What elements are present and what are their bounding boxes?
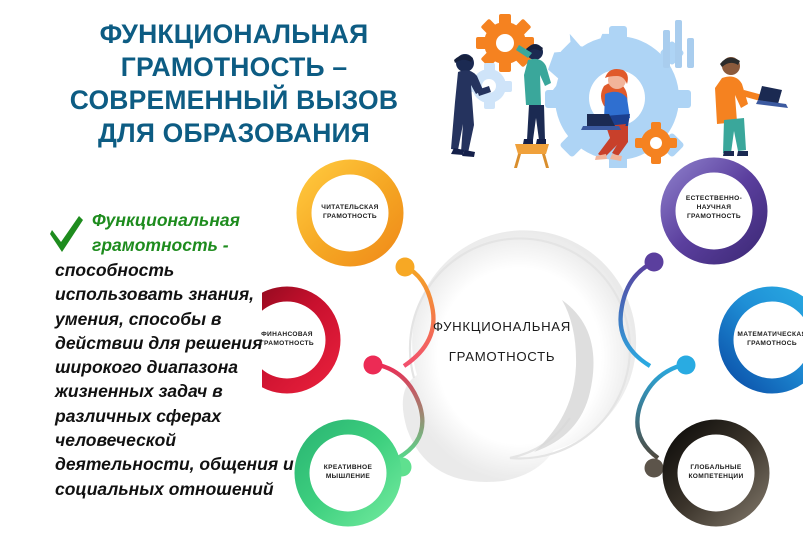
check-mark-icon	[46, 212, 86, 256]
node-reading	[396, 258, 415, 277]
title-line-4: ДЛЯ ОБРАЗОВАНИЯ	[58, 117, 410, 150]
diagram-center-label: ФУНКЦИОНАЛЬНАЯ ГРАМОТНОСТЬ	[412, 312, 592, 372]
ring-mathematics	[726, 294, 803, 386]
title-line-2: ГРАМОТНОСТЬ –	[58, 51, 410, 84]
bar-chart-icon	[663, 20, 694, 68]
title-line-1: ФУНКЦИОНАЛЬНАЯ	[58, 18, 410, 51]
node-math	[677, 356, 696, 375]
page-title: ФУНКЦИОНАЛЬНАЯ ГРАМОТНОСТЬ – СОВРЕМЕННЫЙ…	[58, 18, 410, 150]
ring-creative	[302, 427, 394, 519]
poster-canvas: ФУНКЦИОНАЛЬНАЯ ГРАМОТНОСТЬ – СОВРЕМЕННЫЙ…	[0, 0, 803, 537]
teamwork-gears-illustration	[432, 8, 803, 168]
title-line-3: СОВРЕМЕННЫЙ ВЫЗОВ	[58, 84, 410, 117]
ring-reading	[304, 167, 396, 259]
ring-science	[668, 165, 760, 257]
ring-global	[670, 427, 762, 519]
gear-orange-small-icon	[476, 14, 534, 72]
node-financial	[364, 356, 383, 375]
node-global	[645, 459, 664, 478]
ring-financial	[262, 294, 333, 386]
person-with-laptop-standing	[715, 57, 788, 156]
node-science	[645, 253, 664, 272]
